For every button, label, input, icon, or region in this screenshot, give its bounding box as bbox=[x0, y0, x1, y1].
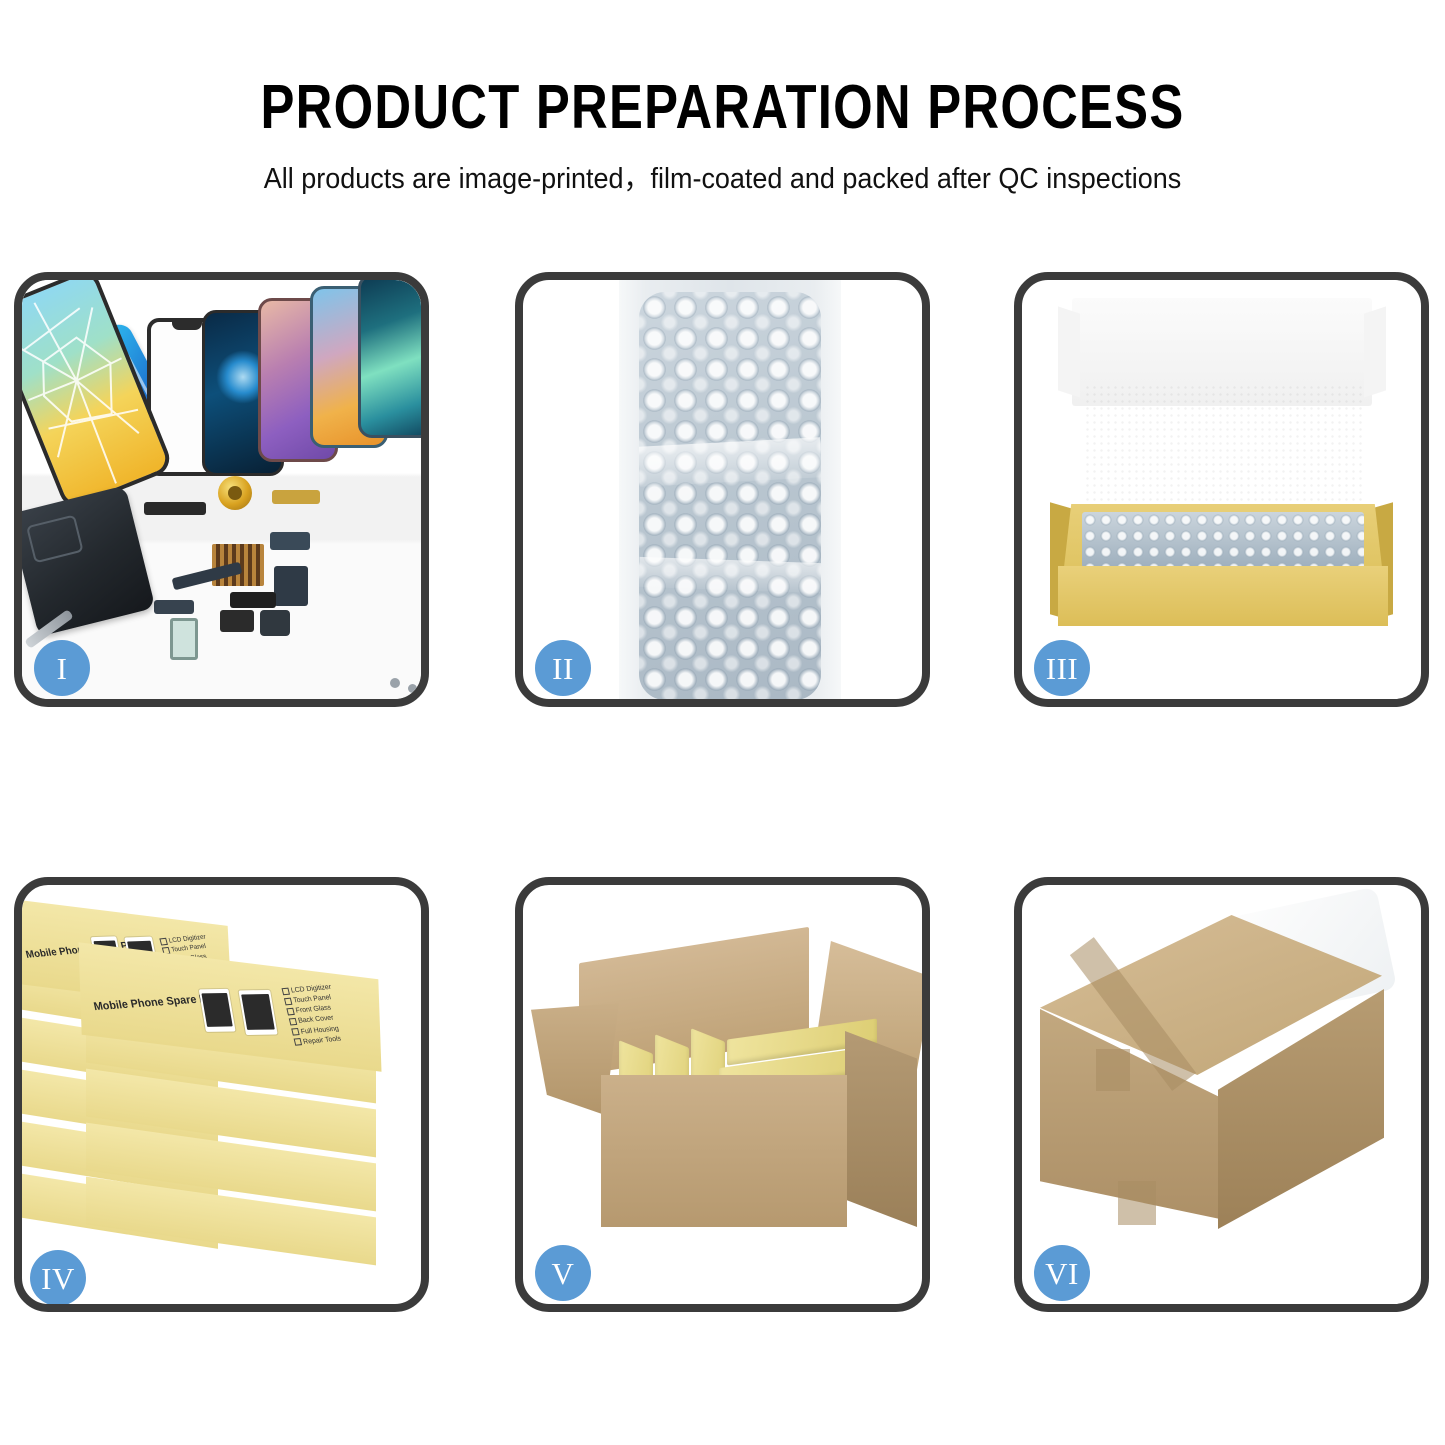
flex-cable-gold-icon bbox=[272, 490, 320, 504]
bubble-wrap-sheet bbox=[619, 280, 841, 699]
packing-tape-bottom bbox=[1118, 1181, 1156, 1225]
bubble-wrapped-item bbox=[1082, 512, 1364, 568]
step-badge-2: II bbox=[535, 640, 591, 696]
step-3-image bbox=[1022, 280, 1421, 699]
sim-card-tray-icon bbox=[170, 618, 198, 660]
plastic-sheen bbox=[639, 557, 821, 593]
step-panel-6: VI bbox=[1014, 877, 1429, 1312]
step-2-image bbox=[523, 280, 922, 699]
bubble-pattern-offset bbox=[639, 292, 821, 699]
page-title: PRODUCT PREPARATION PROCESS bbox=[130, 72, 1315, 143]
step-panel-4: Mobile Phone Spare Parts LCD Digitizer T… bbox=[14, 877, 429, 1312]
step-badge-3: III bbox=[1034, 640, 1090, 696]
step-panel-3: III bbox=[1014, 272, 1429, 707]
step-panel-2: II bbox=[515, 272, 930, 707]
connector-icon bbox=[154, 600, 194, 614]
checklist-item: Full Housing bbox=[300, 1025, 339, 1035]
box-front-panel bbox=[1058, 566, 1388, 626]
earpiece-mesh-icon bbox=[144, 502, 206, 515]
page-subtitle: All products are image-printed，film-coat… bbox=[51, 155, 1395, 197]
step-badge-6: VI bbox=[1034, 1245, 1090, 1301]
carton-side-panel bbox=[845, 1031, 917, 1227]
small-component-icon bbox=[230, 592, 276, 608]
header: PRODUCT PREPARATION PROCESS All products… bbox=[0, 0, 1445, 230]
flex-cable-connector-icon bbox=[270, 532, 310, 550]
step-6-image bbox=[1022, 885, 1421, 1304]
screw-icon bbox=[408, 684, 417, 693]
loudspeaker-icon bbox=[220, 610, 254, 632]
screw-icon bbox=[390, 678, 400, 688]
foam-insert bbox=[1084, 384, 1362, 518]
carton-front-panel bbox=[601, 1075, 847, 1227]
step-4-image: Mobile Phone Spare Parts LCD Digitizer T… bbox=[22, 885, 421, 1304]
step-badge-5: V bbox=[535, 1245, 591, 1301]
step-badge-4: IV bbox=[30, 1250, 86, 1306]
step-5-image bbox=[523, 885, 922, 1304]
checklist-item: Back Cover bbox=[298, 1015, 335, 1025]
wrapped-product bbox=[639, 292, 821, 699]
packing-tape-seam bbox=[1096, 1049, 1130, 1091]
phone-display-teal-icon bbox=[358, 280, 421, 438]
step-panel-5: V bbox=[515, 877, 930, 1312]
vibration-coil-icon bbox=[218, 476, 252, 510]
flex-cable-bent-icon bbox=[274, 566, 308, 606]
checklist-item: Repair Tools bbox=[303, 1035, 342, 1045]
camera-module-icon bbox=[260, 610, 290, 636]
step-badge-1: I bbox=[34, 640, 90, 696]
step-panel-1: I bbox=[14, 272, 429, 707]
step-1-image bbox=[22, 280, 421, 699]
